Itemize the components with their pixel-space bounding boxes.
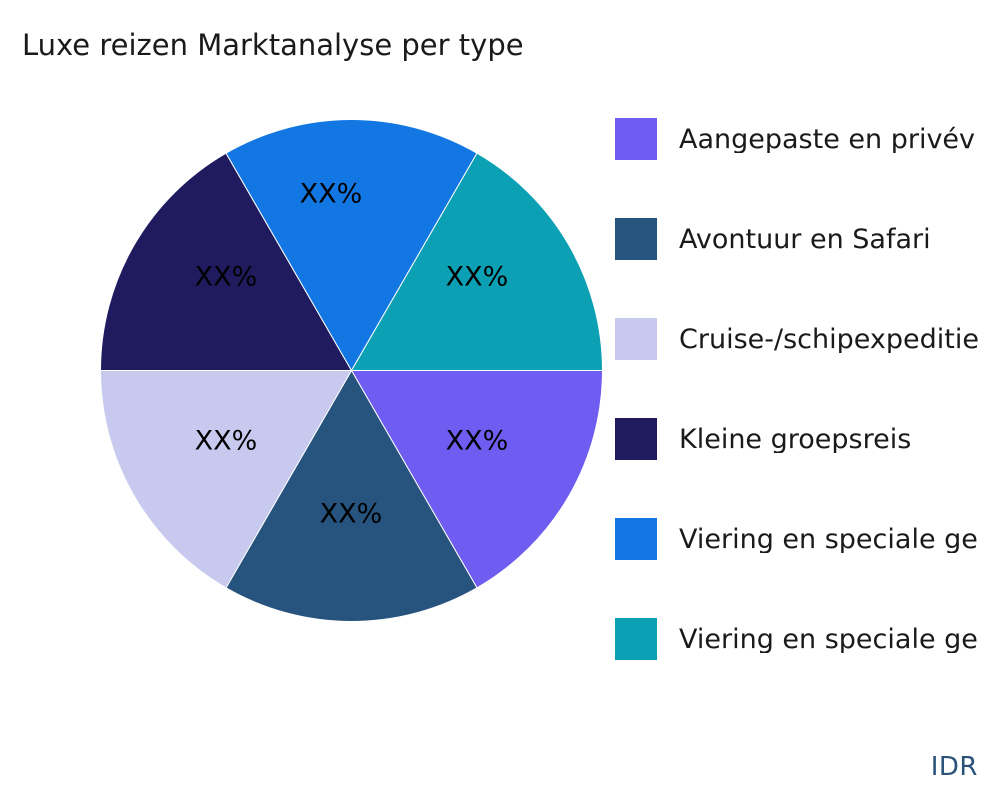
legend-item[interactable]: Cruise-/schipexpeditie	[615, 318, 1000, 360]
legend-swatch-icon	[615, 618, 657, 660]
pie-chart: XX%XX%XX%XX%XX%XX%	[100, 119, 603, 622]
legend-swatch-icon	[615, 518, 657, 560]
slice-kleine-groepsreis-value-label: XX%	[195, 262, 258, 293]
legend-item[interactable]: Aangepaste en privév	[615, 118, 1000, 160]
legend-swatch-icon	[615, 118, 657, 160]
legend-item-label: Avontuur en Safari	[679, 226, 931, 253]
legend-item[interactable]: Viering en speciale ge	[615, 618, 1000, 660]
watermark-idr: IDR	[931, 752, 978, 782]
slice-avontuur-en-safari-value-label: XX%	[320, 499, 383, 530]
legend-item[interactable]: Viering en speciale ge	[615, 518, 1000, 560]
legend-item[interactable]: Kleine groepsreis	[615, 418, 1000, 460]
legend-item-label: Kleine groepsreis	[679, 426, 911, 453]
slice-viering-speciale-2-value-label: XX%	[446, 262, 509, 293]
chart-title: Luxe reizen Marktanalyse per type	[22, 28, 524, 63]
legend-swatch-icon	[615, 418, 657, 460]
legend-item-label: Viering en speciale ge	[679, 626, 978, 653]
legend-item[interactable]: Avontuur en Safari	[615, 218, 1000, 260]
legend-item-label: Viering en speciale ge	[679, 526, 978, 553]
slice-viering-speciale-1-value-label: XX%	[300, 179, 363, 210]
legend: Aangepaste en privévAvontuur en SafariCr…	[615, 118, 1000, 678]
legend-item-label: Aangepaste en privév	[679, 126, 975, 153]
legend-swatch-icon	[615, 218, 657, 260]
slice-aangepaste-en-privev-value-label: XX%	[446, 426, 509, 457]
legend-item-label: Cruise-/schipexpeditie	[679, 326, 979, 353]
legend-swatch-icon	[615, 318, 657, 360]
slice-cruise-schipexpeditie-value-label: XX%	[195, 426, 258, 457]
pie-chart-svg: XX%XX%XX%XX%XX%XX%	[100, 119, 603, 622]
